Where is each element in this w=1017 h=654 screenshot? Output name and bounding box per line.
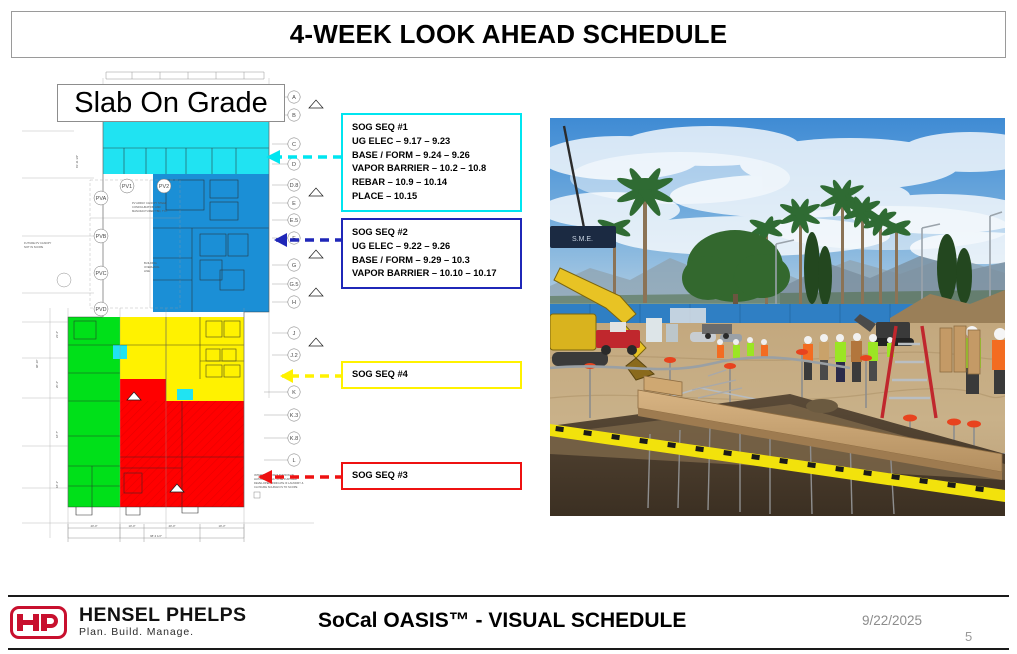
page-title: 4-WEEK LOOK AHEAD SCHEDULE — [290, 19, 728, 50]
svg-text:98'-10": 98'-10" — [35, 359, 39, 368]
svg-text:PV ARRAY CANOPY STEEL: PV ARRAY CANOPY STEEL — [132, 201, 167, 205]
callout-line: REBAR – 10.9 – 10.14 — [352, 176, 511, 190]
svg-text:PVA: PVA — [96, 196, 107, 202]
svg-text:H: H — [292, 300, 296, 306]
svg-text:18'-1": 18'-1" — [55, 481, 59, 488]
callout-line: BASE / FORM – 9.24 – 9.26 — [352, 149, 511, 163]
hp-monogram-icon — [10, 606, 67, 639]
slide-title-box: 4-WEEK LOOK AHEAD SCHEDULE — [11, 11, 1006, 58]
svg-text:PV2: PV2 — [159, 184, 169, 190]
zone-green — [68, 317, 120, 507]
callout-sog-seq-1: SOG SEQ #1 UG ELEC – 9.17 – 9.23 BASE / … — [341, 113, 522, 212]
slide-date: 9/22/2025 — [862, 613, 922, 628]
callout-line: VAPOR BARRIER – 10.2 – 10.8 — [352, 162, 511, 176]
arrow-seq4 — [266, 364, 346, 388]
svg-text:81'-11 1/2": 81'-11 1/2" — [75, 155, 79, 168]
svg-text:A: A — [292, 95, 296, 101]
svg-text:K.8: K.8 — [290, 436, 298, 442]
svg-text:PVC: PVC — [95, 271, 106, 277]
callout-line: BASE / FORM – 9.29 – 10.3 — [352, 254, 511, 268]
svg-text:L: L — [292, 458, 295, 464]
callout-line: SOG SEQ #3 — [352, 469, 511, 483]
svg-text:20'-2": 20'-2" — [55, 381, 59, 388]
footer-bottom-rule — [8, 648, 1009, 650]
svg-text:B: B — [292, 113, 296, 119]
callout-line: SOG SEQ #1 — [352, 121, 511, 135]
callout-line: VAPOR BARRIER – 10.10 – 10.17 — [352, 267, 511, 281]
plan-label-text: Slab On Grade — [74, 87, 267, 120]
svg-text:CONFIGURATION AND: CONFIGURATION AND — [132, 205, 161, 209]
svg-text:FUTURE PV CANOPY: FUTURE PV CANOPY — [24, 241, 52, 245]
svg-text:PVB: PVB — [96, 234, 107, 240]
svg-text:PV1: PV1 — [122, 184, 132, 190]
svg-text:K.3: K.3 — [290, 413, 298, 419]
svg-text:10'-0": 10'-0" — [128, 524, 135, 528]
svg-text:23'-2": 23'-2" — [55, 331, 59, 338]
logo-text-block: HENSEL PHELPS Plan. Build. Manage. — [79, 605, 246, 640]
svg-text:J.2: J.2 — [290, 353, 297, 359]
callout-line: UG ELEC – 9.17 – 9.23 — [352, 135, 511, 149]
svg-text:LINE: LINE — [144, 269, 150, 273]
svg-text:OVERHANG: OVERHANG — [144, 265, 159, 269]
svg-text:MANUFACTURER TBD, TYP.: MANUFACTURER TBD, TYP. — [132, 209, 168, 213]
svg-text:98'-3 1/2": 98'-3 1/2" — [150, 534, 162, 538]
svg-text:NOT IN SCOPE: NOT IN SCOPE — [24, 245, 43, 249]
company-tagline: Plan. Build. Manage. — [79, 626, 246, 639]
svg-text:K: K — [292, 390, 296, 396]
callout-line: SOG SEQ #2 — [352, 226, 511, 240]
company-name: HENSEL PHELPS — [79, 605, 246, 625]
construction-site-photo: S.M.E. — [550, 118, 1005, 516]
svg-text:G: G — [292, 263, 296, 269]
svg-text:40'-0": 40'-0" — [90, 524, 97, 528]
callout-sog-seq-4: SOG SEQ #4 — [341, 361, 522, 389]
arrow-seq1 — [244, 145, 344, 169]
footer-center-title: SoCal OASIS™ - VISUAL SCHEDULE — [318, 609, 738, 633]
svg-text:E: E — [292, 201, 296, 207]
callout-sog-seq-3: SOG SEQ #3 — [341, 462, 522, 490]
plan-label-box: Slab On Grade — [57, 84, 285, 122]
svg-text:BUILDING: BUILDING — [144, 261, 157, 265]
arrow-seq2 — [258, 228, 346, 252]
svg-text:PVD: PVD — [95, 307, 106, 313]
svg-text:G.5: G.5 — [289, 282, 298, 288]
presentation-slide: 4-WEEK LOOK AHEAD SCHEDULE — [0, 0, 1017, 654]
hensel-phelps-logo: HENSEL PHELPS Plan. Build. Manage. — [10, 605, 246, 640]
svg-text:18'-7": 18'-7" — [55, 431, 59, 438]
callout-line: SOG SEQ #4 — [352, 368, 511, 382]
svg-text:19'-3": 19'-3" — [218, 524, 225, 528]
slide-footer: HENSEL PHELPS Plan. Build. Manage. SoCal… — [0, 597, 1017, 648]
callout-line: PLACE – 10.15 — [352, 190, 511, 204]
svg-text:J: J — [293, 331, 296, 337]
arrow-seq3 — [240, 465, 346, 489]
callout-line: UG ELEC – 9.22 – 9.26 — [352, 240, 511, 254]
svg-text:S.M.E.: S.M.E. — [572, 236, 593, 243]
svg-text:E.5: E.5 — [290, 218, 298, 224]
svg-text:D.8: D.8 — [290, 183, 299, 189]
slide-page-number: 5 — [965, 629, 972, 644]
svg-text:40'-0": 40'-0" — [168, 524, 175, 528]
callout-sog-seq-2: SOG SEQ #2 UG ELEC – 9.22 – 9.26 BASE / … — [341, 218, 522, 289]
zone-seq2-blue — [153, 174, 269, 312]
